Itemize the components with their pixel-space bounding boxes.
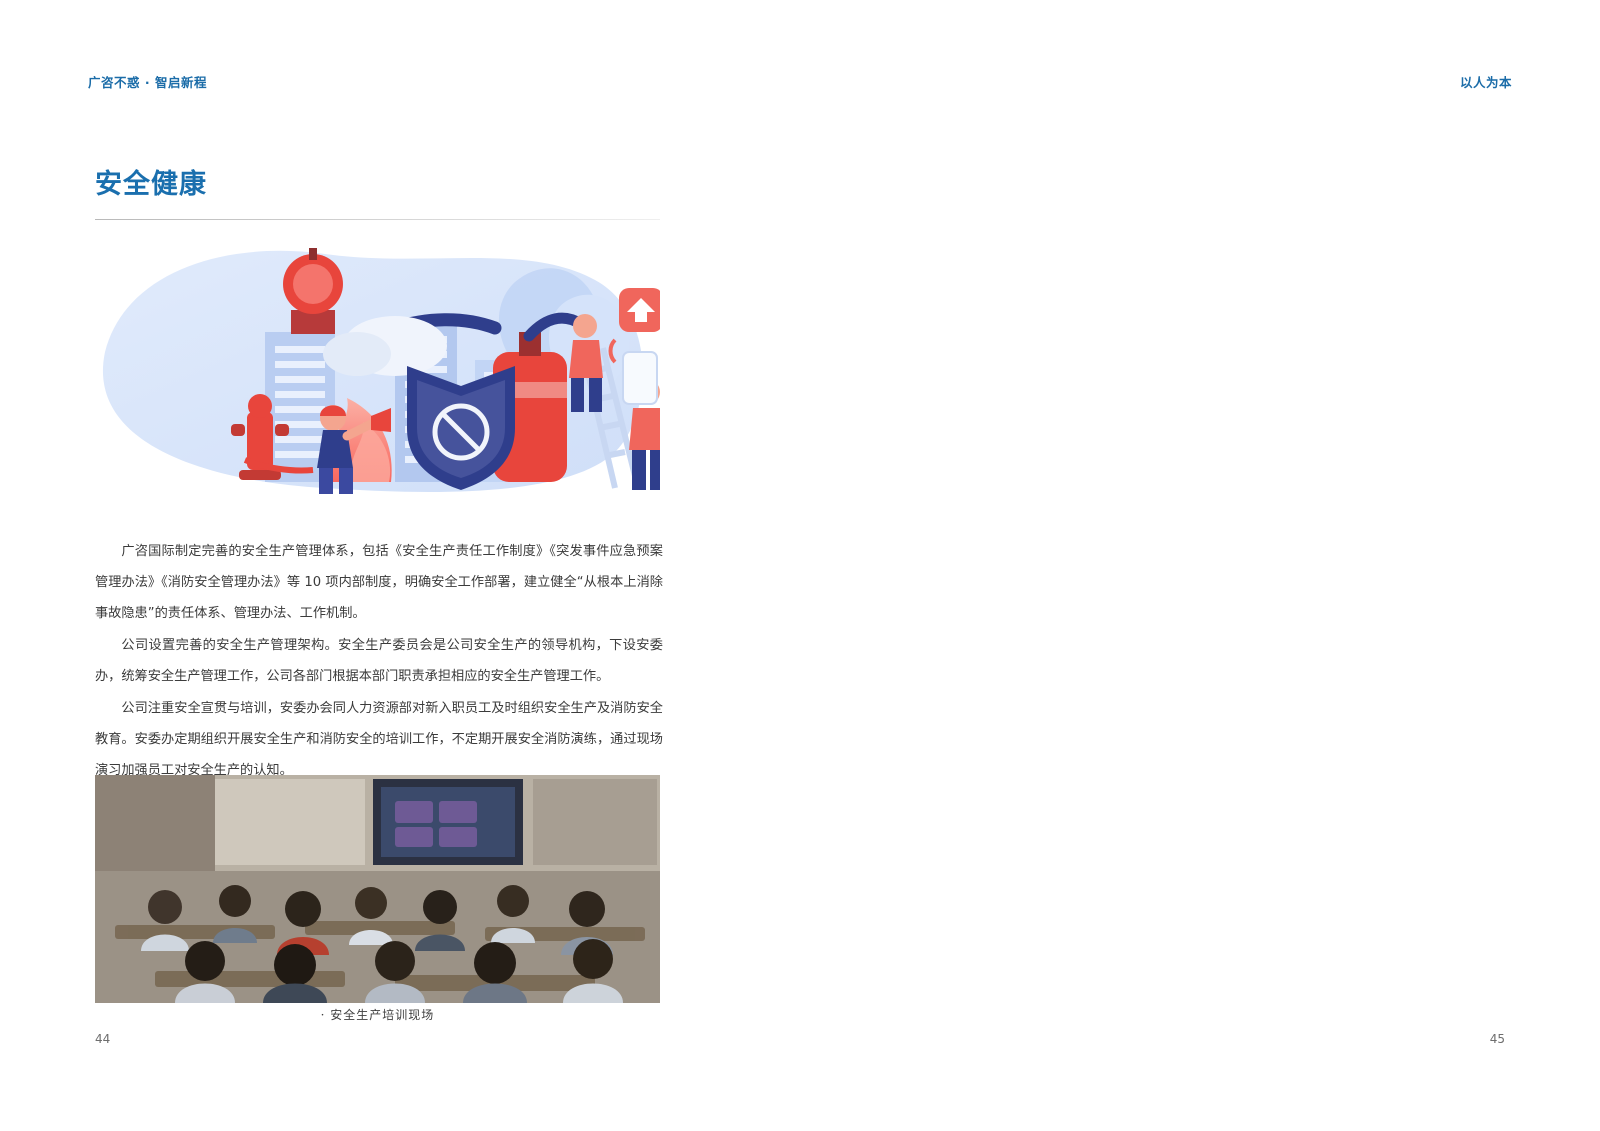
training-photo bbox=[95, 775, 660, 1003]
paragraph-1: 广咨国际制定完善的安全生产管理体系，包括《安全生产责任工作制度》《突发事件应急预… bbox=[95, 536, 663, 629]
title-divider bbox=[95, 219, 660, 220]
paragraph-3: 公司注重安全宣贯与培训，安委办会同人力资源部对新入职员工及时组织安全生产及消防安… bbox=[95, 693, 663, 786]
report-spread: 广咨不惑 · 智启新程 以人为本 安全健康 bbox=[0, 0, 1600, 1131]
page-number-right: 45 bbox=[1490, 1032, 1505, 1046]
page-number-left: 44 bbox=[95, 1032, 110, 1046]
page-title: 安全健康 bbox=[95, 162, 207, 201]
left-body-copy: 广咨国际制定完善的安全生产管理体系，包括《安全生产责任工作制度》《突发事件应急预… bbox=[95, 536, 663, 787]
fire-safety-illustration bbox=[95, 232, 660, 517]
training-photo-caption: · 安全生产培训现场 bbox=[95, 1006, 660, 1023]
left-page: 安全健康 bbox=[0, 0, 800, 1131]
paragraph-2: 公司设置完善的安全生产管理架构。安全生产委员会是公司安全生产的领导机构，下设安委… bbox=[95, 630, 663, 692]
right-page: · 消防演练现场 突发事件处置能力建设 制定《突发事件应急预案管理办法》，明确突… bbox=[800, 0, 1600, 1131]
